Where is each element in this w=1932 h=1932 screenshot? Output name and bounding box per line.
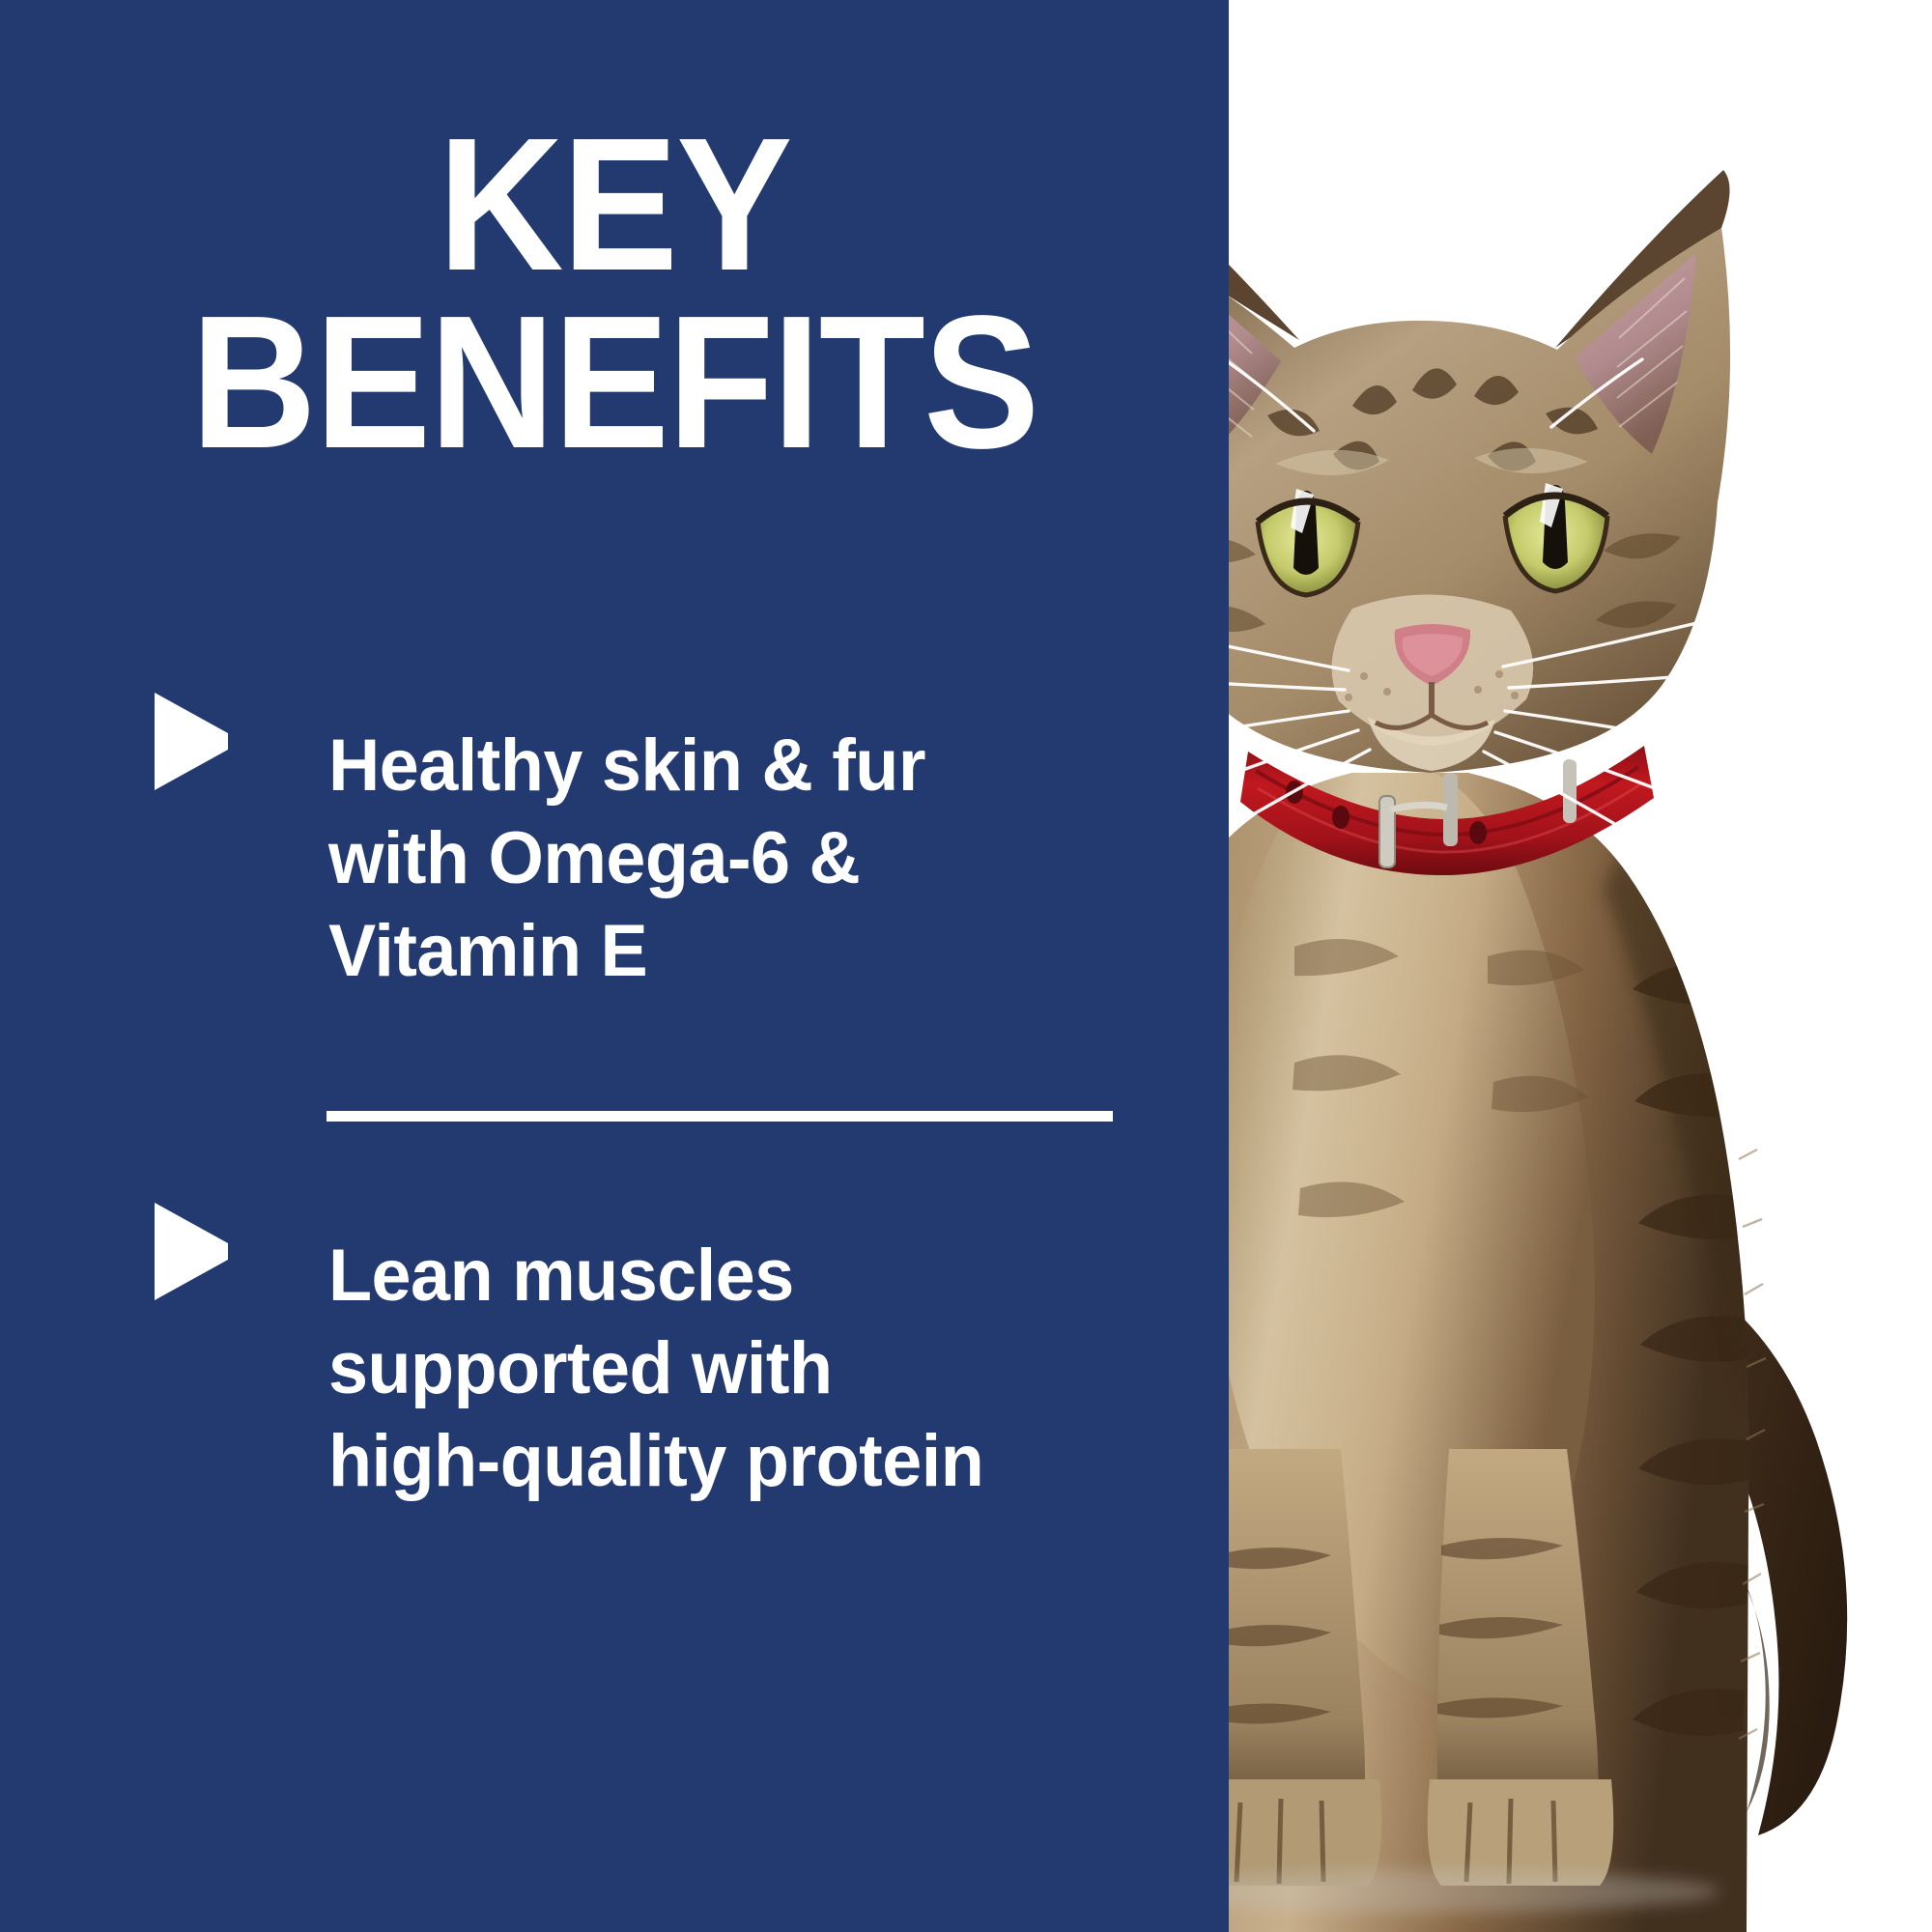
benefit-item-1: Healthy skin & fur with Omega-6 & Vitami… [0, 720, 1229, 997]
benefits-divider-wrap [0, 1111, 1229, 1122]
triangle-right-icon [155, 733, 230, 814]
key-benefits-poster: KEY BENEFITS Healthy skin & fur with Ome… [0, 0, 1932, 1932]
benefit-item-2: Lean muscles supported with high-quality… [0, 1230, 1229, 1507]
title-line-2: BENEFITS [49, 294, 1179, 471]
title-line-1: KEY [49, 116, 1179, 294]
benefits-divider [327, 1111, 1113, 1122]
benefit-text-2: Lean muscles supported with high-quality… [328, 1230, 984, 1507]
benefits-list: Healthy skin & fur with Omega-6 & Vitami… [0, 720, 1229, 1508]
triangle-right-icon [155, 1243, 230, 1324]
page-title: KEY BENEFITS [49, 116, 1179, 471]
benefit-text-1: Healthy skin & fur with Omega-6 & Vitami… [328, 720, 984, 997]
